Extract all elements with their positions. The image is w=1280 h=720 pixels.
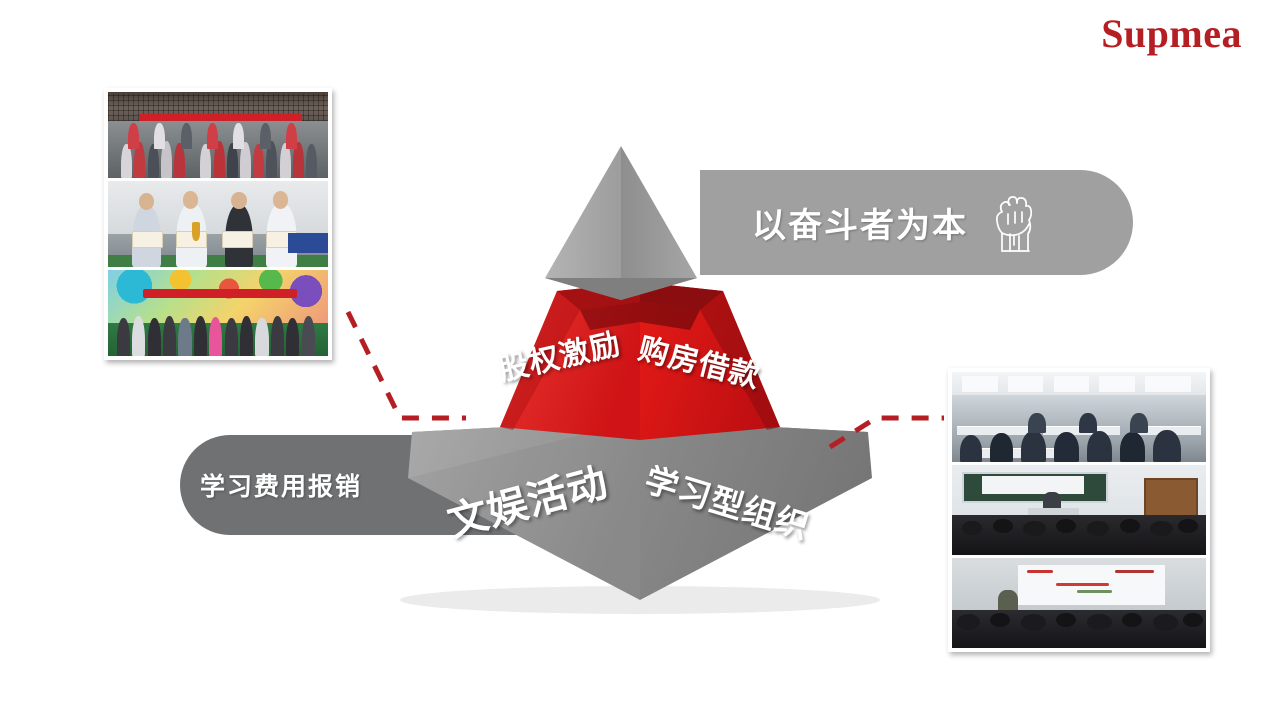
slide-canvas: Supmea bbox=[0, 0, 1280, 720]
pyramid-tier-top[interactable] bbox=[545, 146, 697, 300]
connector-left bbox=[348, 312, 466, 418]
